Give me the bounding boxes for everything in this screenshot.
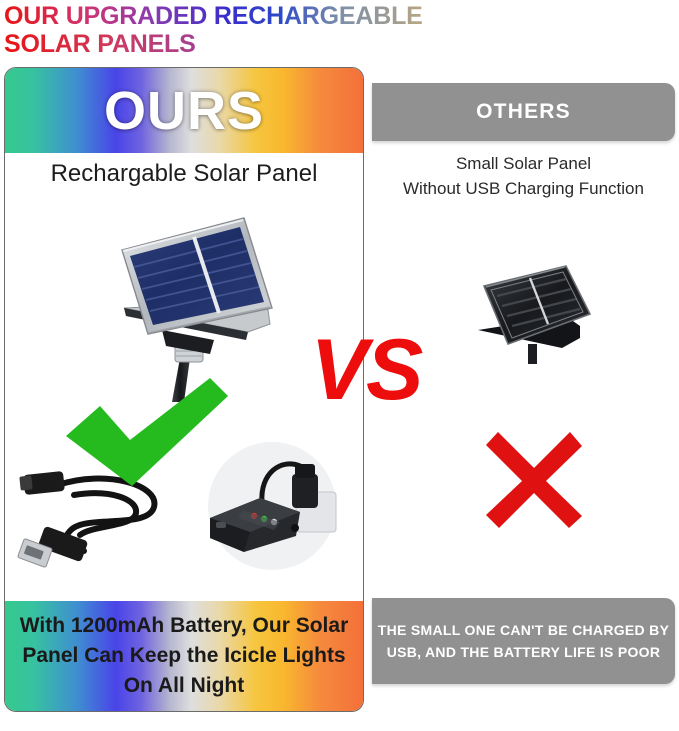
others-subtitle-line-2: Without USB Charging Function xyxy=(372,176,675,201)
others-header-banner: OTHERS xyxy=(372,83,675,141)
ours-header-label: OURS xyxy=(104,80,264,142)
headline-line-2: SOLAR PANELS xyxy=(4,30,676,58)
headline-line-1: OUR UPGRADED RECHARGEABLE xyxy=(4,2,676,30)
others-subtitle-line-1: Small Solar Panel xyxy=(372,151,675,176)
blue-solar-panel-image xyxy=(118,212,298,402)
ours-footer-text: With 1200mAh Battery, Our Solar Panel Ca… xyxy=(5,611,363,701)
others-footer-banner: THE SMALL ONE CAN'T BE CHARGED BY USB, A… xyxy=(372,598,675,684)
small-black-solar-panel-image xyxy=(462,252,606,364)
vs-label: VS xyxy=(286,325,446,415)
ours-subtitle: Rechargable Solar Panel xyxy=(5,160,363,188)
others-subtitle: Small Solar Panel Without USB Charging F… xyxy=(372,151,675,201)
ours-footer-banner: With 1200mAh Battery, Our Solar Panel Ca… xyxy=(5,601,363,711)
red-x-icon xyxy=(482,428,586,532)
green-check-icon xyxy=(60,378,230,488)
others-header-label: OTHERS xyxy=(476,100,571,124)
others-footer-text: THE SMALL ONE CAN'T BE CHARGED BY USB, A… xyxy=(372,619,675,663)
ours-header-banner: OURS xyxy=(5,68,363,153)
page-title: OUR UPGRADED RECHARGEABLE SOLAR PANELS xyxy=(4,2,676,58)
